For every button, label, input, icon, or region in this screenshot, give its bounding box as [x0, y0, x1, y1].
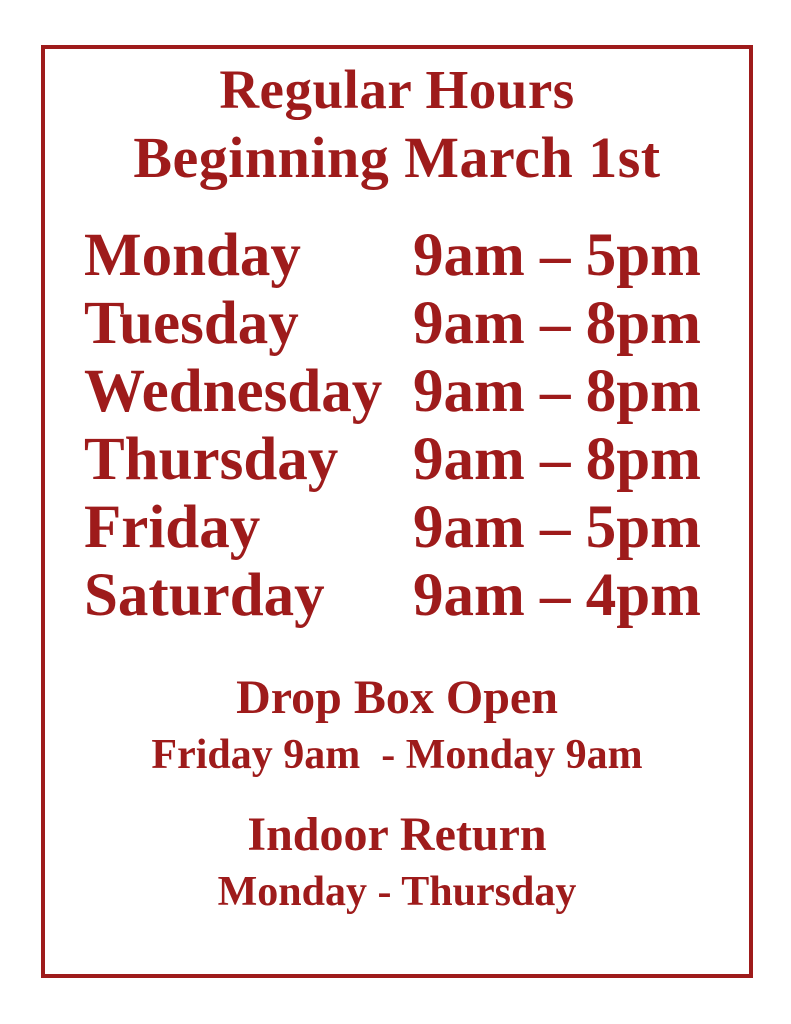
notice-indoor-return-days: Monday - Thursday	[41, 865, 753, 919]
day-label-tuesday: Tuesday	[84, 290, 299, 358]
day-label-wednesday: Wednesday	[84, 358, 382, 426]
notice-drop-box: Drop Box Open Friday 9am - Monday 9am	[41, 668, 753, 782]
notice-indoor-return-title: Indoor Return	[41, 805, 753, 865]
schedule-row-wednesday: Wednesday 9am – 8pm	[41, 358, 753, 426]
notice-drop-box-hours: Friday 9am - Monday 9am	[41, 728, 753, 782]
day-label-thursday: Thursday	[84, 426, 338, 494]
day-label-monday: Monday	[84, 222, 301, 290]
schedule-row-tuesday: Tuesday 9am – 8pm	[41, 290, 753, 358]
notice-indoor-return: Indoor Return Monday - Thursday	[41, 805, 753, 919]
day-hours-tuesday: 9am – 8pm	[413, 290, 701, 358]
day-hours-wednesday: 9am – 8pm	[413, 358, 701, 426]
day-hours-friday: 9am – 5pm	[413, 494, 701, 562]
schedule-row-friday: Friday 9am – 5pm	[41, 494, 753, 562]
poster-content: Regular Hours Beginning March 1st Monday…	[41, 45, 753, 978]
day-hours-monday: 9am – 5pm	[413, 222, 701, 290]
day-hours-saturday: 9am – 4pm	[413, 562, 701, 630]
day-label-friday: Friday	[84, 494, 260, 562]
poster-heading: Regular Hours Beginning March 1st	[41, 57, 753, 193]
notice-drop-box-title: Drop Box Open	[41, 668, 753, 728]
hours-schedule: Monday 9am – 5pm Tuesday 9am – 8pm Wedne…	[41, 222, 753, 630]
day-label-saturday: Saturday	[84, 562, 325, 630]
schedule-row-thursday: Thursday 9am – 8pm	[41, 426, 753, 494]
hours-poster: Regular Hours Beginning March 1st Monday…	[0, 0, 791, 1024]
heading-line-beginning-date: Beginning March 1st	[41, 123, 753, 193]
schedule-row-monday: Monday 9am – 5pm	[41, 222, 753, 290]
heading-line-regular-hours: Regular Hours	[41, 57, 753, 123]
schedule-row-saturday: Saturday 9am – 4pm	[41, 562, 753, 630]
day-hours-thursday: 9am – 8pm	[413, 426, 701, 494]
